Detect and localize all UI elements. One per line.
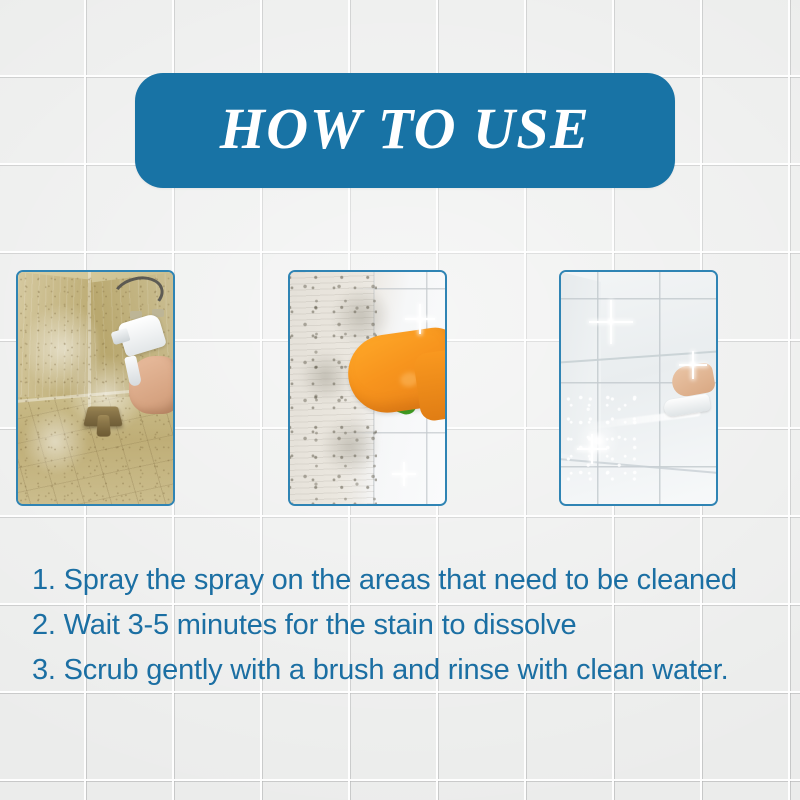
instruction-step-1: 1. Spray the spray on the areas that nee… (32, 558, 778, 603)
clean-bathroom-scene (561, 272, 716, 504)
instruction-list: 1. Spray the spray on the areas that nee… (32, 558, 778, 693)
step-panel-2 (288, 270, 447, 506)
drain-stub (97, 415, 112, 437)
floor-drain-icon (83, 406, 123, 426)
how-to-use-infographic: HOW TO USE (0, 0, 800, 800)
step-2-photo (290, 272, 445, 504)
title-banner: HOW TO USE (135, 73, 675, 188)
dirty-bathroom-scene (18, 272, 173, 504)
moldy-wall-scene (290, 272, 445, 504)
step-panels (0, 270, 800, 504)
step-panel-1 (16, 270, 175, 506)
instruction-step-3: 3. Scrub gently with a brush and rinse w… (32, 648, 778, 693)
water-droplets (564, 393, 638, 486)
page-title: HOW TO USE (220, 100, 591, 162)
step-1-photo (18, 272, 173, 504)
step-panel-3 (559, 270, 718, 506)
instruction-step-2: 2. Wait 3-5 minutes for the stain to dis… (32, 603, 778, 648)
step-3-photo (561, 272, 716, 504)
